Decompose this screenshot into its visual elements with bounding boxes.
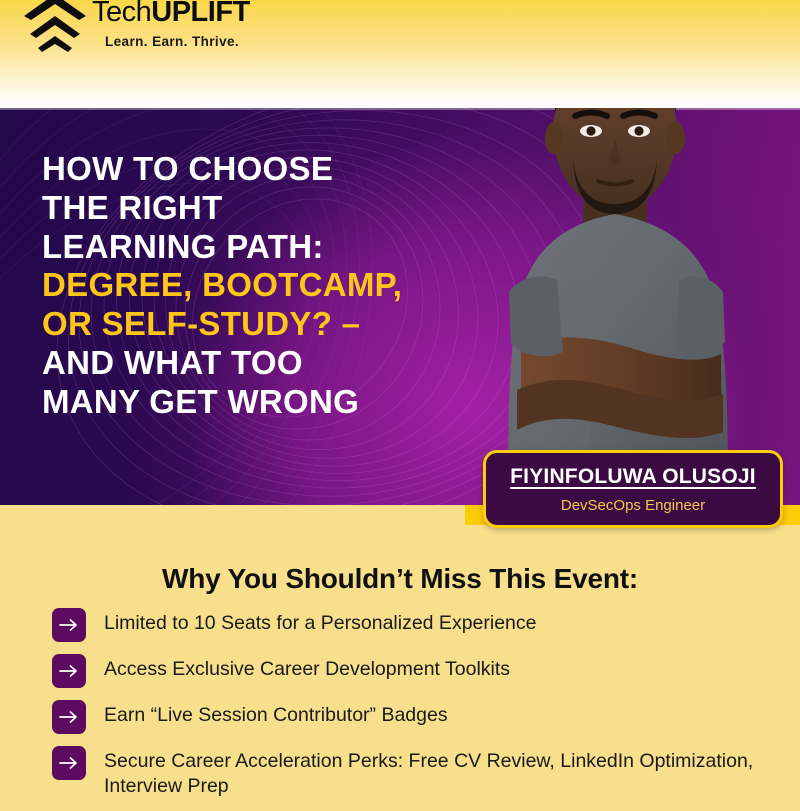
benefit-text: Secure Career Acceleration Perks: Free C… [104, 746, 764, 799]
brand-name-light: Tech [92, 0, 151, 28]
speaker-name: FIYINFOLUWA OLUSOJI [510, 465, 756, 489]
arrow-right-icon [52, 608, 86, 642]
list-item: Limited to 10 Seats for a Personalized E… [52, 608, 792, 642]
benefits-title: Why You Shouldn’t Miss This Event: [0, 563, 800, 595]
speaker-role: DevSecOps Engineer [561, 497, 705, 514]
arrow-right-icon [52, 746, 86, 780]
headline-line-3: LEARNING PATH: [42, 228, 402, 267]
brand-tagline: Learn. Earn. Thrive. [105, 34, 250, 49]
list-item: Access Exclusive Career Development Tool… [52, 654, 792, 688]
brand-name: TechUPLIFT [92, 0, 250, 27]
list-item: Earn “Live Session Contributor” Badges [52, 700, 792, 734]
headline-line-2: THE RIGHT [42, 189, 402, 228]
benefits-list: Limited to 10 Seats for a Personalized E… [52, 608, 792, 811]
headline: HOW TO CHOOSE THE RIGHT LEARNING PATH: D… [42, 150, 402, 421]
headline-line-1: HOW TO CHOOSE [42, 150, 402, 189]
headline-line-6: AND WHAT TOO [42, 344, 402, 383]
arrow-right-icon [52, 700, 86, 734]
benefit-text: Limited to 10 Seats for a Personalized E… [104, 608, 537, 636]
headline-line-5: OR SELF-STUDY? – [42, 305, 402, 344]
headline-line-7: MANY GET WRONG [42, 383, 402, 422]
benefit-text: Earn “Live Session Contributor” Badges [104, 700, 448, 728]
triple-chevron-up-icon [22, 0, 88, 56]
list-item: Secure Career Acceleration Perks: Free C… [52, 746, 792, 799]
arrow-right-icon [52, 654, 86, 688]
speaker-name-badge: FIYINFOLUWA OLUSOJI DevSecOps Engineer [483, 450, 783, 528]
brand-header: TechUPLIFT Learn. Earn. Thrive. [0, 0, 800, 108]
benefit-text: Access Exclusive Career Development Tool… [104, 654, 510, 682]
headline-line-4: DEGREE, BOOTCAMP, [42, 266, 402, 305]
brand-logo[interactable]: TechUPLIFT Learn. Earn. Thrive. [22, 0, 250, 56]
brand-name-bold: UPLIFT [151, 0, 250, 28]
